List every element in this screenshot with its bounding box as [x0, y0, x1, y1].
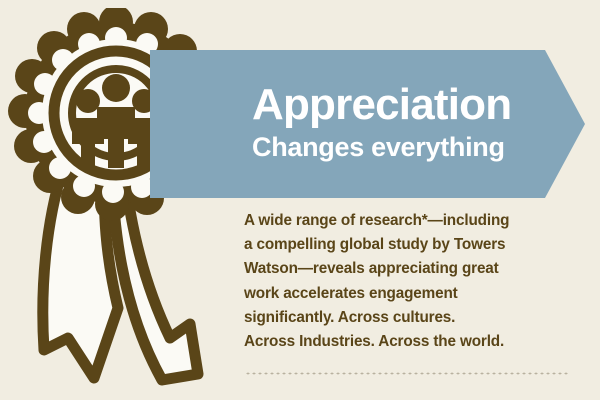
body-line: Across Industries. Across the world.	[244, 330, 574, 354]
body-line: a compelling global study by Towers	[244, 233, 574, 257]
body-line: Watson—reveals appreciating great	[244, 257, 574, 281]
banner-shape	[150, 50, 585, 198]
body-paragraph: A wide range of research*—including a co…	[244, 209, 574, 354]
body-line: significantly. Across cultures.	[244, 306, 574, 330]
body-line: work accelerates engagement	[244, 282, 574, 306]
headline-banner-chevron	[150, 50, 600, 198]
infographic-canvas: Appreciation Changes everything A wide r…	[0, 0, 600, 400]
body-line: A wide range of research*—including	[244, 209, 574, 233]
dotted-divider	[245, 372, 570, 375]
